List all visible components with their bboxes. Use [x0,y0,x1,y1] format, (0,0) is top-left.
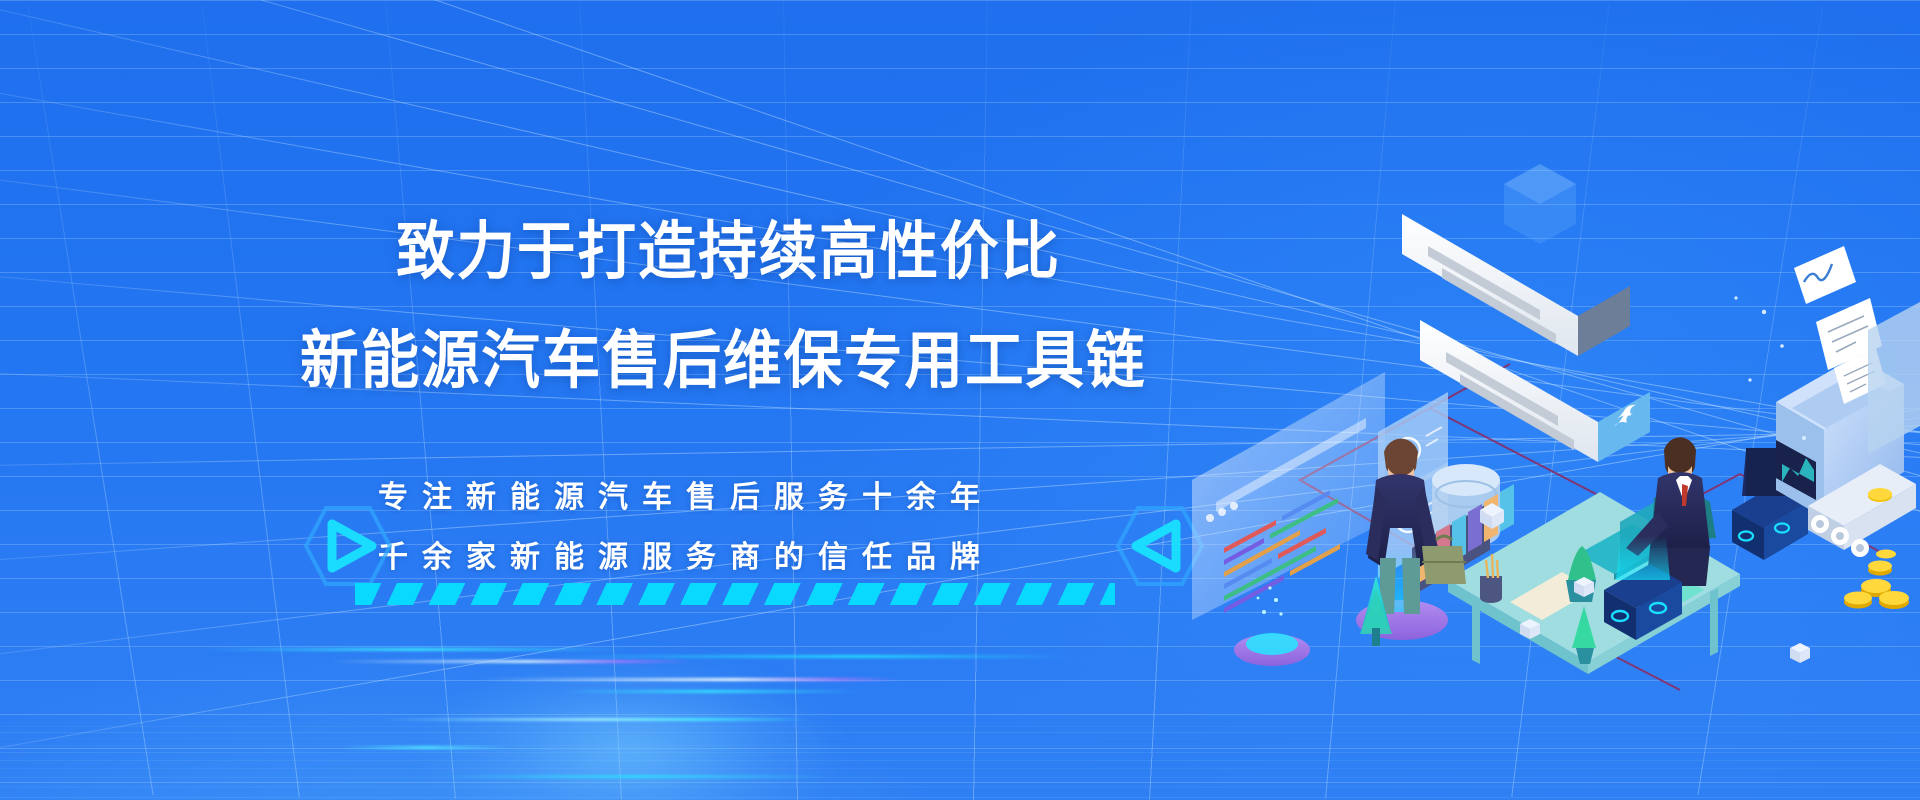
chart-document [1794,246,1856,304]
holographic-cube [1504,164,1576,244]
subtitle-line-2: 千余家新能源服务商的信任品牌 [378,538,994,578]
light-streak [340,746,510,749]
light-streak [200,648,630,651]
headline-line-2: 新能源汽车售后维保专用工具链 [300,325,1146,397]
light-streak [550,655,1070,658]
grid-vertical-line [201,3,299,797]
browser-window-card [1192,372,1385,620]
headline-line-1: 致力于打造持续高性价比 [396,216,1061,288]
twitter-bird-card [1420,320,1650,462]
diagonal-stripe-bar [355,583,1115,605]
light-streak [380,718,810,721]
gold-coins [1844,550,1909,610]
bottom-glow [420,655,840,800]
light-streak [480,678,900,681]
light-streak [330,660,690,663]
floating-cube [1790,643,1810,663]
hexagon-play-right-icon [300,498,396,594]
light-streak [560,690,860,693]
grid-floor-lines [0,721,1920,800]
grid-vertical-line [27,5,153,795]
light-streak [440,775,830,778]
hero-banner: 致力于打造持续高性价比 新能源汽车售后维保专用工具链 专注新能源汽车售后服务十余… [0,0,1920,800]
grid-vertical-line [973,0,988,800]
isometric-business-team-illustration: @ @ [1180,150,1920,670]
subtitle-line-1: 专注新能源汽车售后服务十余年 [378,478,994,518]
